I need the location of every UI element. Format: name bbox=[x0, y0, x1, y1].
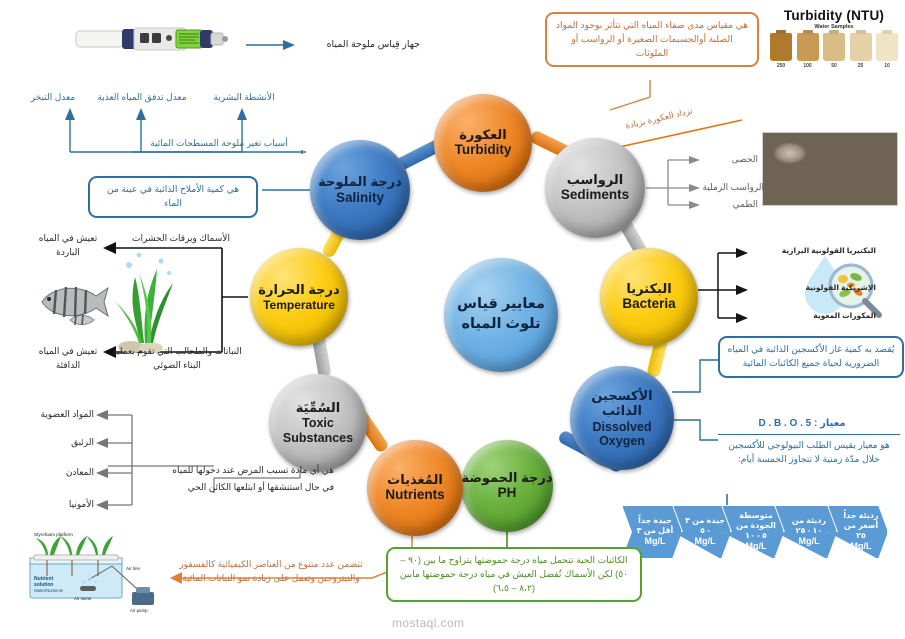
dbo-step-unit: Mg/L bbox=[695, 536, 716, 547]
callout-nutrients: تتضمن عدد متنوع من العناصر الكيميائية كا… bbox=[176, 557, 366, 586]
branch-toxic-3: الأمونيا bbox=[20, 498, 94, 512]
watermark: mostaql.com bbox=[392, 616, 464, 630]
salinity-cause-freshwater-flow: معدل تدفق المياه العذبة bbox=[82, 91, 202, 105]
node-salinity-label-en: Salinity bbox=[336, 191, 384, 206]
callout-dbo-description: هو معيار يقيس الطلب البيولوجي للأكسجين خ… bbox=[718, 434, 900, 472]
branch-temperature-0-from: الأسماك ويرقات الحشرات bbox=[118, 232, 244, 246]
center-title: معايير قياس تلوث المياه bbox=[444, 295, 558, 334]
dbo-step-label: جيدة جداً أقل من ٣ bbox=[633, 516, 677, 536]
aquatic-plants-illustration bbox=[95, 243, 215, 353]
hydroponics-illustration: Styrofoam platform Air line Nutrient sol… bbox=[14, 524, 164, 616]
node-sediments-label-ar: الرواسب bbox=[567, 173, 624, 187]
ntu-sample: 10 bbox=[876, 33, 898, 69]
node-oxygen-label-ar: الأكسجين الذائب bbox=[570, 388, 674, 419]
callout-toxic-line1: هي أي مادة تسبب المرض عند دخولها للمياه bbox=[134, 464, 334, 478]
svg-text:Water/Nutrients: Water/Nutrients bbox=[34, 588, 63, 593]
salinity-cause-human-activity: الأنشطة البشرية bbox=[198, 91, 290, 105]
svg-text:Air line: Air line bbox=[126, 566, 140, 571]
ntu-value: 100 bbox=[797, 63, 819, 69]
salinity-meter-device bbox=[72, 22, 232, 56]
salinity-meter-label: جهاز قِياس ملوحة المياه bbox=[300, 38, 420, 52]
ntu-sample: 100 bbox=[797, 33, 819, 69]
node-bacteria-label-en: Bacteria bbox=[622, 297, 675, 312]
sample-jar-icon bbox=[770, 33, 792, 61]
sediment-rocks-photo bbox=[762, 132, 898, 206]
sample-jar-icon bbox=[876, 33, 898, 61]
sample-jar-icon bbox=[797, 33, 819, 61]
node-ph-label-ar: درجة الحموضة bbox=[461, 471, 552, 485]
dbo-description-text: هو معيار يقيس الطلب البيولوجي للأكسجين خ… bbox=[728, 440, 889, 464]
dbo-step-label: متوسطة الجودة من ٥ - ١٠ bbox=[733, 511, 779, 541]
node-nutrients-label-ar: المُغذيات bbox=[387, 473, 443, 487]
ntu-sample: 50 bbox=[823, 33, 845, 69]
node-sediments[interactable]: الرواسب Sediments bbox=[545, 138, 645, 238]
node-toxic-label-ar: السُمِّيَة bbox=[296, 401, 340, 415]
sample-jar-icon bbox=[823, 33, 845, 61]
node-salinity-label-ar: درجة الملوحة bbox=[318, 174, 402, 190]
node-turbidity-label-en: Turbidity bbox=[455, 143, 512, 158]
salinity-cause-evaporation: معدل التبخر bbox=[20, 91, 86, 105]
ntu-title: Turbidity (NTU) bbox=[770, 8, 898, 23]
dbo-standard-title: معيار : D . B . O . 5 bbox=[718, 416, 886, 431]
dbo-scale-step[interactable]: رديئة من ١٠ - ٢٥ Mg/L bbox=[775, 505, 837, 559]
callout-ph-text: الكائنات الحية تتحمل مياه درجة حموضتها ي… bbox=[400, 555, 628, 593]
callout-toxic-line2: في حال استنشقها أو ابتلعها الكائن الحي bbox=[134, 481, 334, 495]
node-temperature-label-ar: درجة الحرارة bbox=[258, 282, 339, 298]
branch-bacteria-2: المكورات المعوية bbox=[750, 310, 876, 321]
fish-illustration bbox=[36, 278, 112, 328]
branch-bacteria-1: الإشريكية القولونية bbox=[750, 282, 876, 293]
svg-text:Styrofoam platform: Styrofoam platform bbox=[34, 532, 73, 537]
node-ph-label-en: PH bbox=[498, 486, 517, 501]
callout-turbidity: هي مقياس مدى صفاء المياه التي تتأثر بوجو… bbox=[545, 12, 759, 67]
ntu-value: 250 bbox=[770, 63, 792, 69]
dbo-step-label: رديئة جداً أصغر من ٢٥ bbox=[839, 511, 883, 541]
ntu-value: 25 bbox=[850, 63, 872, 69]
node-temperature[interactable]: درجة الحرارة Temperature bbox=[250, 248, 348, 346]
node-center-title: معايير قياس تلوث المياه bbox=[444, 258, 558, 372]
branch-sediments-2: الطمي bbox=[702, 198, 758, 212]
node-nutrients[interactable]: المُغذيات Nutrients bbox=[367, 440, 463, 536]
ntu-sample: 250 bbox=[770, 33, 792, 69]
branch-temperature-0-to: تعيش في المياه الباردة bbox=[36, 232, 100, 259]
callout-turbidity-text: هي مقياس مدى صفاء المياه التي تتأثر بوجو… bbox=[556, 20, 748, 58]
ntu-value: 10 bbox=[876, 63, 898, 69]
dbo-step-unit: Mg/L bbox=[799, 536, 820, 547]
node-turbidity[interactable]: العكورة Turbidity bbox=[434, 94, 532, 192]
label-turbidity-increase: تزداد العكورة بزيادة bbox=[594, 98, 724, 140]
callout-dissolved-oxygen: يُقصد به كمية غاز الأكسجين الذائبة في ال… bbox=[718, 336, 904, 378]
dbo-scale-step[interactable]: متوسطة الجودة من ٥ - ١٠ Mg/L bbox=[722, 505, 784, 559]
node-sediments-label-en: Sediments bbox=[561, 188, 629, 203]
infographic-canvas: العكورة Turbidity الرواسب Sediments البك… bbox=[0, 0, 905, 639]
ntu-sample: 25 bbox=[850, 33, 872, 69]
sample-jar-icon bbox=[850, 33, 872, 61]
node-toxic-substances[interactable]: السُمِّيَة Toxic Substances bbox=[269, 374, 367, 472]
node-turbidity-label-ar: العكورة bbox=[459, 128, 507, 142]
callout-salinity-text: هي كمية الأملاح الذائبة في عينة من الماء bbox=[107, 184, 239, 208]
salinity-causes-title: أسباب تغير ملوحة المسطحات المائية bbox=[132, 137, 306, 151]
svg-text:Air pump: Air pump bbox=[130, 608, 148, 613]
callout-ph: الكائنات الحية تتحمل مياه درجة حموضتها ي… bbox=[386, 547, 642, 602]
svg-text:Air stone: Air stone bbox=[74, 596, 92, 601]
branch-bacteria-0: البكتيريا القولونية البرازية bbox=[750, 245, 876, 256]
node-dissolved-oxygen[interactable]: الأكسجين الذائب Dissolved Oxygen bbox=[570, 366, 674, 470]
ntu-sample-row: 250 100 50 25 10 bbox=[770, 33, 898, 69]
branch-toxic-2: المعادن bbox=[20, 466, 94, 480]
callout-nutrients-text: تتضمن عدد متنوع من العناصر الكيميائية كا… bbox=[179, 559, 362, 583]
node-salinity[interactable]: درجة الملوحة Salinity bbox=[310, 140, 410, 240]
dbo-step-label: رديئة من ١٠ - ٢٥ bbox=[786, 516, 832, 536]
branch-toxic-1: الزئبق bbox=[20, 436, 94, 450]
node-bacteria-label-ar: البكتريا bbox=[626, 282, 671, 296]
callout-salinity: هي كمية الأملاح الذائبة في عينة من الماء bbox=[88, 176, 258, 218]
branch-sediments-1: الرواسب الرملية bbox=[694, 181, 764, 195]
branch-temperature-1-to: تعيش في المياه الدافئة bbox=[36, 345, 100, 372]
node-bacteria[interactable]: البكتريا Bacteria bbox=[600, 248, 698, 346]
node-nutrients-label-en: Nutrients bbox=[385, 488, 444, 503]
node-temperature-label-en: Temperature bbox=[263, 299, 335, 312]
node-ph[interactable]: درجة الحموضة PH bbox=[461, 440, 553, 532]
dbo-step-label: جيدة من ٣ - ٥ bbox=[684, 516, 726, 536]
dbo-scale-step[interactable]: رديئة جداً أصغر من ٢٥ Mg/L bbox=[828, 505, 888, 559]
callout-oxygen-text: يُقصد به كمية غاز الأكسجين الذائبة في ال… bbox=[728, 344, 895, 368]
ntu-value: 50 bbox=[823, 63, 845, 69]
dbo-step-unit: Mg/L bbox=[851, 541, 872, 552]
node-toxic-label-en: Toxic Substances bbox=[269, 416, 367, 445]
branch-temperature-1-from: النباتات والطحالب التي تقوم بعملية البنا… bbox=[110, 345, 244, 372]
node-oxygen-label-en: Dissolved Oxygen bbox=[570, 420, 674, 449]
turbidity-ntu-panel: Turbidity (NTU) Water Samples 250 100 50… bbox=[770, 8, 898, 69]
dbo-step-unit: Mg/L bbox=[746, 541, 767, 552]
dbo-scale-band: جيدة جداً أقل من ٣ Mg/L جيدة من ٣ - ٥ Mg… bbox=[622, 505, 879, 559]
dbo-step-unit: Mg/L bbox=[645, 536, 666, 547]
branch-toxic-0: المواد العضوية bbox=[20, 408, 94, 422]
branch-sediments-0: الحصى bbox=[702, 153, 758, 167]
